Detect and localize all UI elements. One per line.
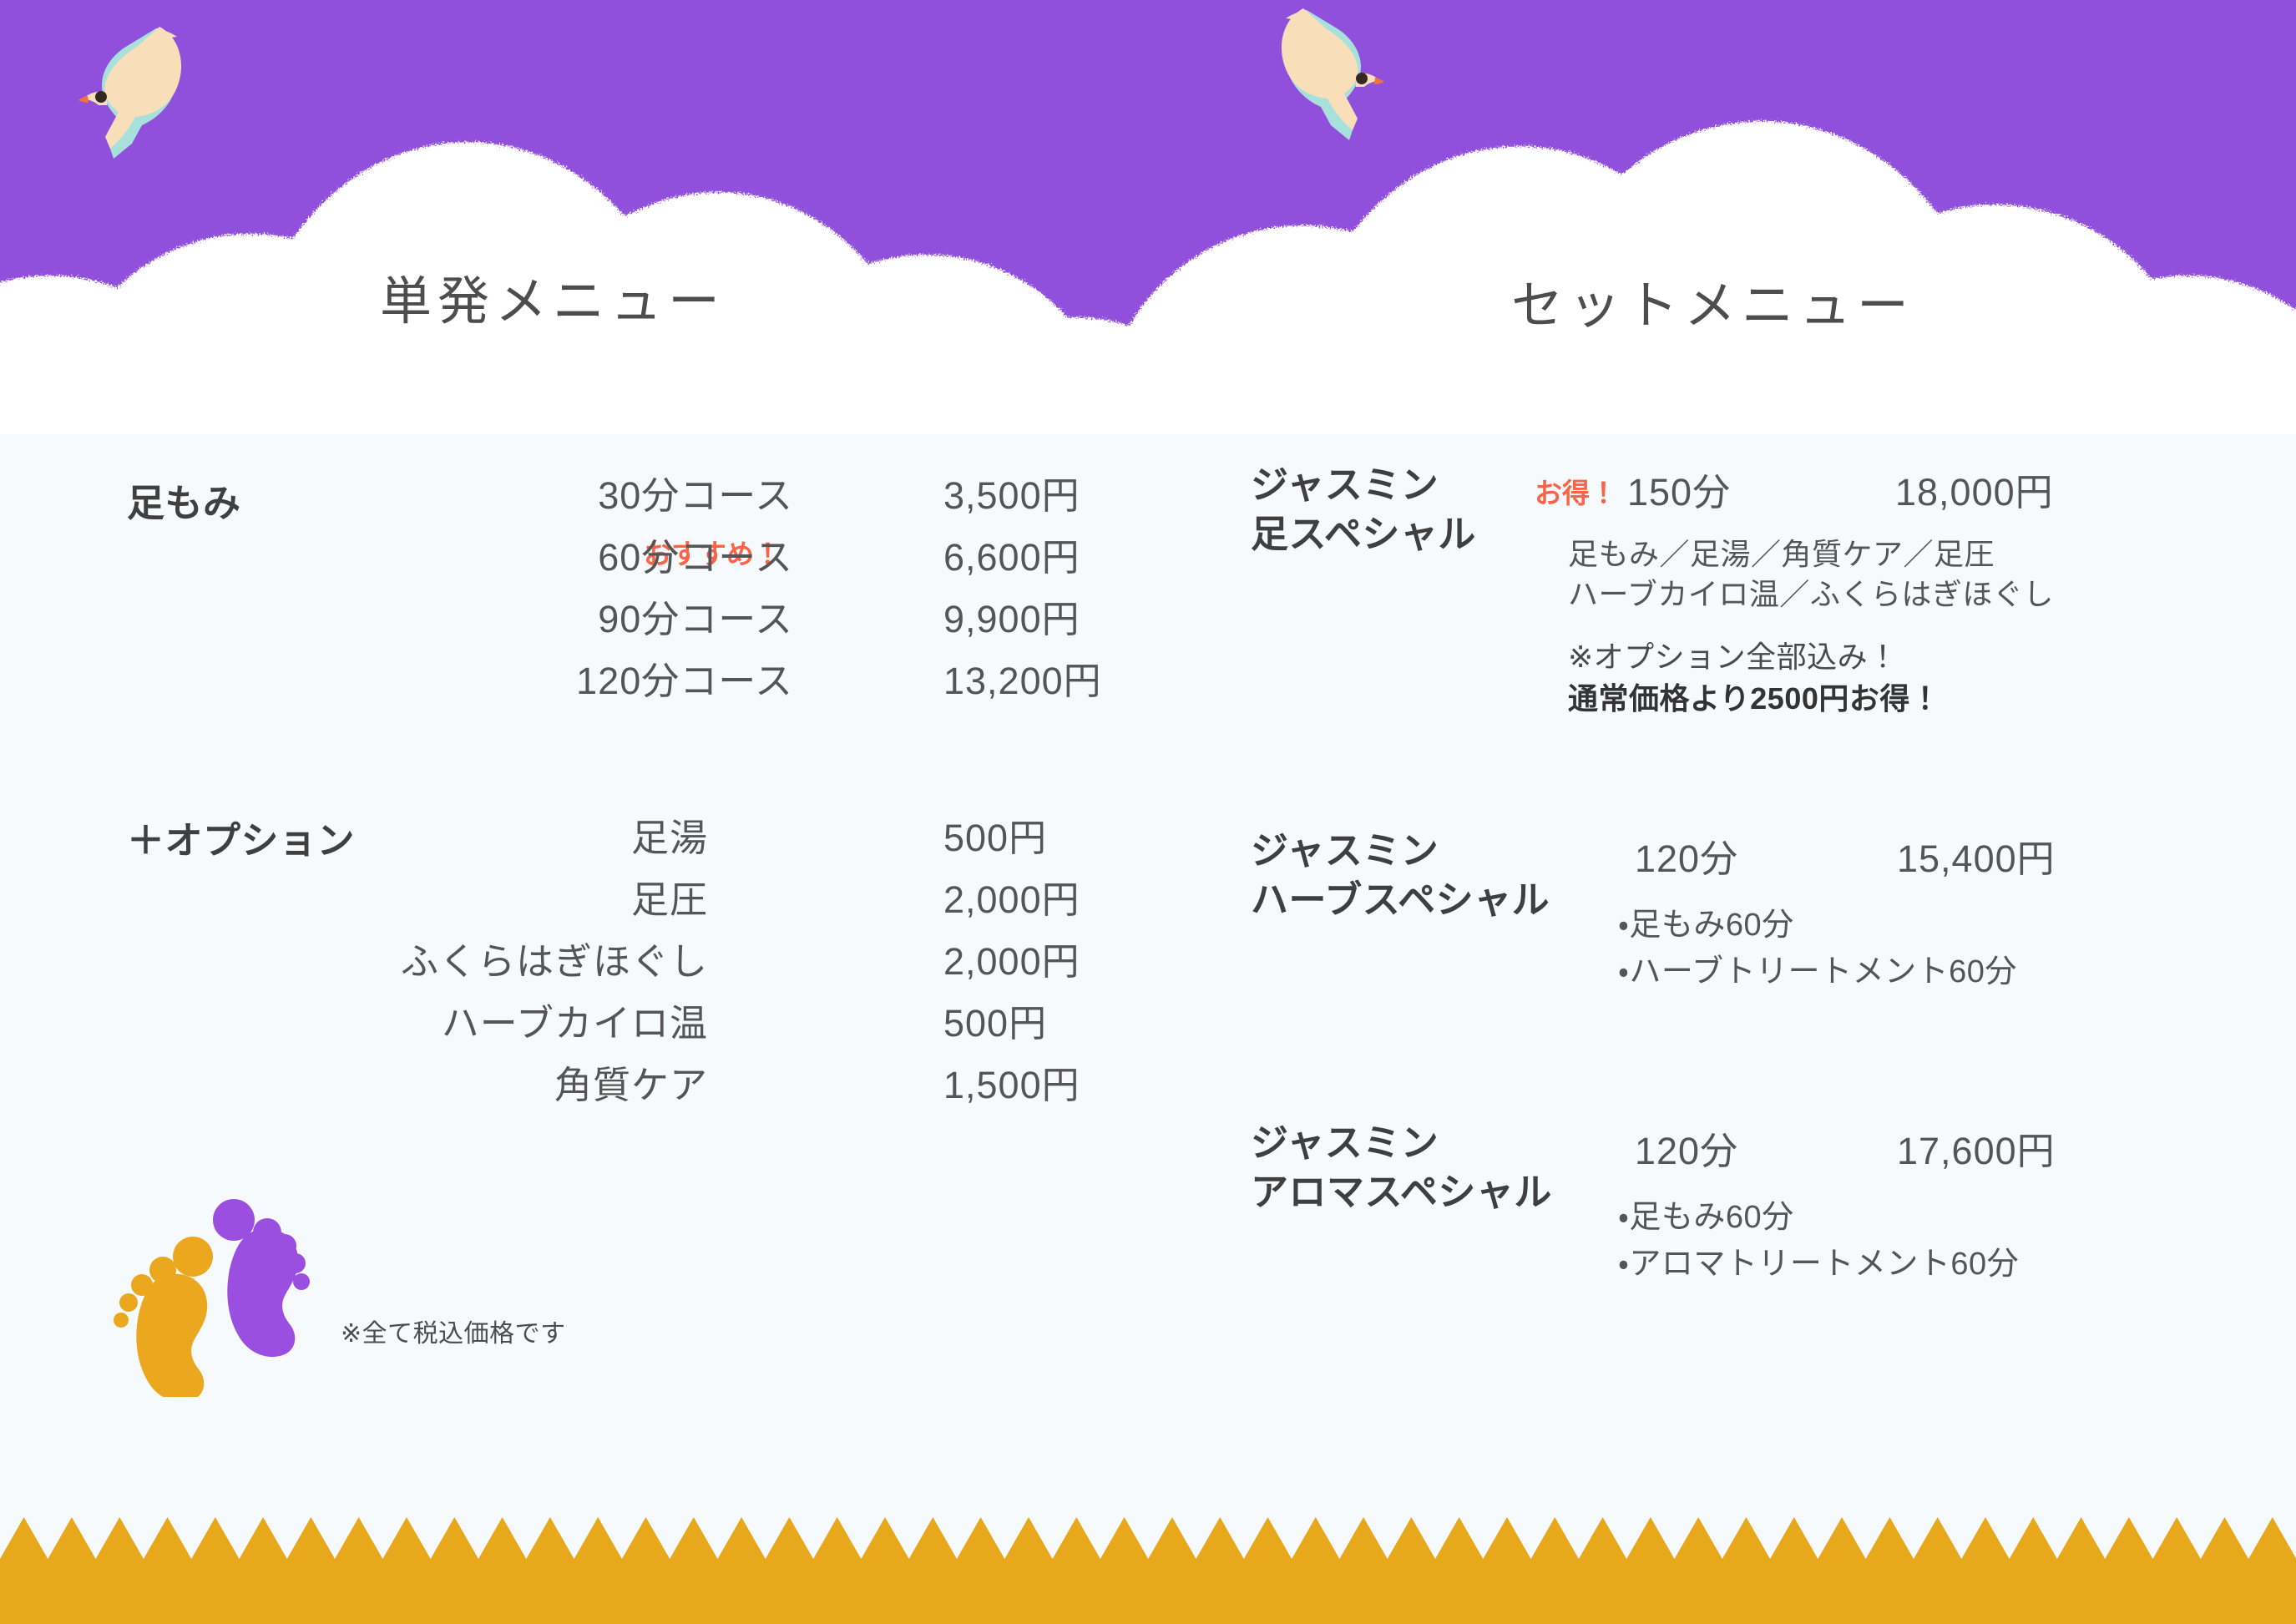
menu-block-title: ＋オプション <box>127 817 355 866</box>
sky-cloud-banner <box>0 0 2296 434</box>
price-row-label: ふくらはぎほぐし <box>401 931 708 985</box>
menu-block-title: 足もみ <box>127 479 241 529</box>
price-row-label: 30分コース <box>598 465 793 519</box>
menu-block-title: ジャスミン ハーブスペシャル <box>1251 827 1550 924</box>
price-row-label: 60分コース <box>598 527 793 581</box>
set-duration-value: 150分 <box>1627 471 1731 514</box>
menu-block-title-line1: ジャスミン <box>1251 461 1476 510</box>
price-row-amount: 1,500円 <box>943 1055 1080 1109</box>
price-row-label: 90分コース <box>598 589 793 643</box>
price-row-amount: 2,000円 <box>943 869 1080 923</box>
menu-block-title-line1: ジャスミン <box>1251 1119 1552 1168</box>
set-note-line1: ※オプション全部込み！ <box>1568 636 1940 678</box>
price-row-label: 角質ケア <box>554 1055 708 1109</box>
set-duration: お得！150分 <box>1535 462 1731 516</box>
set-bullet-list: ・足もみ60分 ・アロマトリートメント60分 <box>1618 1194 2019 1288</box>
menu-block-title-line2: ハーブスペシャル <box>1251 876 1550 925</box>
footprint-purple <box>213 1199 310 1357</box>
set-price: 17,600円 <box>1897 1121 2056 1175</box>
footprint-orange <box>114 1237 213 1397</box>
price-row-label: 足湯 <box>631 807 708 862</box>
cloud-shape <box>0 0 2296 434</box>
price-row-amount: 2,000円 <box>943 931 1080 985</box>
baby-footprints-icon <box>107 1176 324 1397</box>
set-note: ※オプション全部込み！ 通常価格より2500円お得！ <box>1568 636 1940 719</box>
bird-flying-right-icon <box>1252 0 1386 150</box>
set-description: 足もみ／足湯／角質ケア／足圧 ハーブカイロ温／ふくらはぎほぐし <box>1568 534 2054 614</box>
page-title-set-menu: セットメニュー <box>1511 263 1914 338</box>
set-duration: 120分 <box>1635 828 1738 883</box>
set-note-line2: 通常価格より2500円お得！ <box>1568 678 1940 720</box>
menu-block-title: ジャスミン 足スペシャル <box>1251 461 1476 559</box>
price-row-label: ハーブカイロ温 <box>442 993 708 1047</box>
set-price: 18,000円 <box>1895 462 2054 516</box>
price-row-amount: 6,600円 <box>943 527 1080 581</box>
set-description-line1: 足もみ／足湯／角質ケア／足圧 <box>1568 534 2054 574</box>
price-row-amount: 500円 <box>943 807 1047 862</box>
deal-badge: お得！ <box>1535 478 1617 508</box>
set-duration: 120分 <box>1635 1121 1738 1175</box>
menu-block-title-line2: 足スペシャル <box>1251 510 1476 559</box>
menu-block-title-line1: ジャスミン <box>1251 827 1550 876</box>
set-bullet-item: ・アロマトリートメント60分 <box>1618 1241 2019 1288</box>
price-row-label: 足圧 <box>631 869 708 923</box>
price-row-amount: 3,500円 <box>943 465 1080 519</box>
set-bullet-item: ・足もみ60分 <box>1618 902 2017 949</box>
menu-block-title-line2: アロマスペシャル <box>1251 1168 1552 1217</box>
set-bullet-item: ・足もみ60分 <box>1618 1194 2019 1241</box>
set-bullet-list: ・足もみ60分 ・ハーブトリートメント60分 <box>1618 902 2017 995</box>
bottom-zigzag-border <box>0 1499 2296 1624</box>
price-row-amount: 13,200円 <box>943 650 1102 705</box>
price-row-amount: 500円 <box>943 993 1047 1047</box>
menu-block-title: ジャスミン アロマスペシャル <box>1251 1119 1552 1217</box>
zigzag-shape <box>0 1499 2296 1624</box>
set-price: 15,400円 <box>1897 828 2056 883</box>
bird-flying-left-icon <box>77 18 210 169</box>
price-row-label: 120分コース <box>576 650 793 705</box>
page-title-single-menu: 単発メニュー <box>380 259 726 334</box>
tax-note: ※全て税込価格です <box>341 1313 566 1349</box>
set-description-line2: ハーブカイロ温／ふくらはぎほぐし <box>1568 574 2054 615</box>
set-bullet-item: ・ハーブトリートメント60分 <box>1618 949 2017 995</box>
price-row-amount: 9,900円 <box>943 589 1080 643</box>
